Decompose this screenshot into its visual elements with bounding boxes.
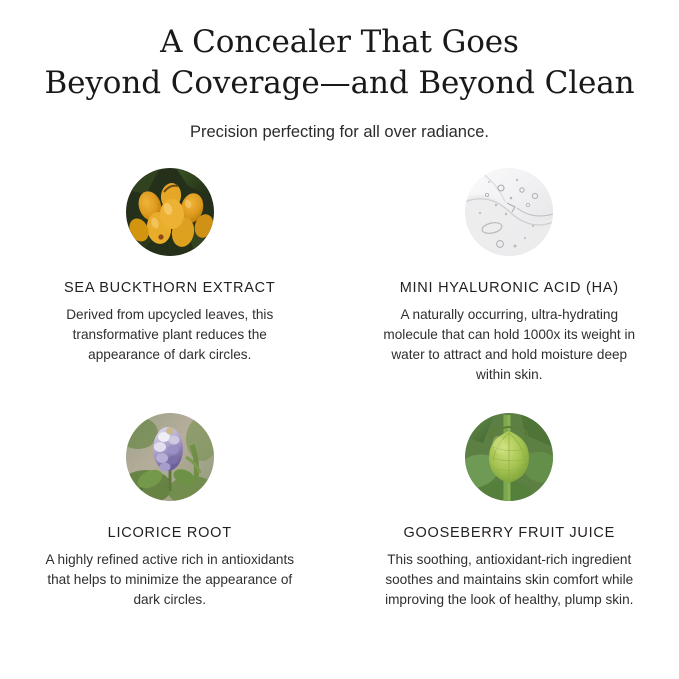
hyaluronic-acid-gel-texture-photo [465,168,553,256]
ingredient-title: SEA BUCKTHORN EXTRACT [64,280,276,296]
page-subtitle: Precision perfecting for all over radian… [0,122,679,143]
page-title: A Concealer That Goes Beyond Coverage—an… [20,22,660,104]
ingredient-description: Derived from upcycled leaves, this trans… [44,305,296,365]
ingredient-description: This soothing, antioxidant-rich ingredie… [378,550,640,610]
ingredient-title: GOOSEBERRY FRUIT JUICE [404,525,616,541]
licorice-root-flower-photo [126,413,214,501]
ingredient-card-sea-buckthorn: SEA BUCKTHORN EXTRACT Derived from upcyc… [0,168,340,413]
sea-buckthorn-berries-photo [126,168,214,256]
ingredient-benefits-panel: A Concealer That Goes Beyond Coverage—an… [0,0,679,679]
ingredient-card-hyaluronic-acid: MINI HYALURONIC ACID (HA) A naturally oc… [340,168,679,413]
ingredient-card-gooseberry: GOOSEBERRY FRUIT JUICE This soothing, an… [340,413,679,658]
header: A Concealer That Goes Beyond Coverage—an… [0,0,679,143]
ingredient-grid: SEA BUCKTHORN EXTRACT Derived from upcyc… [0,168,679,658]
ingredient-description: A highly refined active rich in antioxid… [44,550,296,610]
page-title-line-1: A Concealer That Goes [20,22,660,63]
ingredient-title: MINI HYALURONIC ACID (HA) [400,280,619,296]
ingredient-description: A naturally occurring, ultra-hydrating m… [378,305,640,385]
page-title-line-2: Beyond Coverage—and Beyond Clean [20,63,660,104]
ingredient-title: LICORICE ROOT [108,525,232,541]
gooseberry-fruit-husk-photo [465,413,553,501]
ingredient-card-licorice-root: LICORICE ROOT A highly refined active ri… [0,413,340,658]
